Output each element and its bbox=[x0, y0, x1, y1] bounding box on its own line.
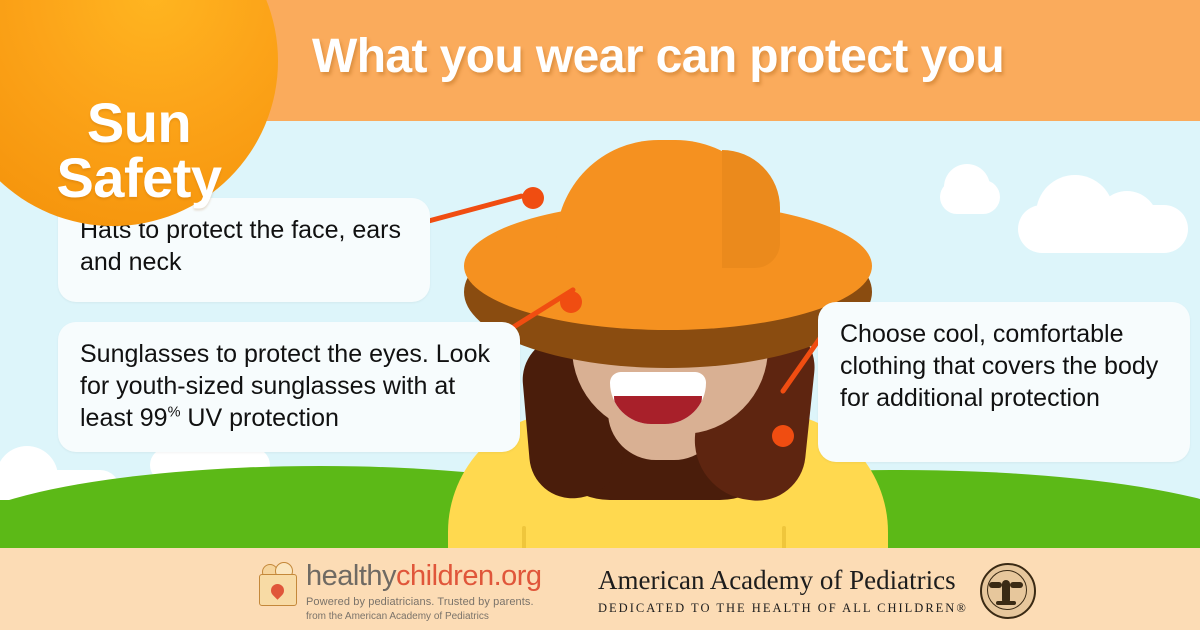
healthychildren-tagline-1: Powered by pediatricians. Trusted by par… bbox=[306, 596, 542, 608]
aap-name: American Academy of Pediatrics bbox=[598, 567, 968, 594]
pointer-dot-glasses bbox=[560, 291, 582, 313]
healthychildren-logo[interactable]: healthychildren.org Powered by pediatric… bbox=[255, 562, 542, 622]
aap-seal-icon bbox=[980, 563, 1036, 619]
sun-safety-infographic: Hats to protect the face, ears and neck … bbox=[0, 0, 1200, 630]
callout-clothing: Choose cool, comfortable clothing that c… bbox=[818, 302, 1190, 462]
healthychildren-mark-icon bbox=[255, 562, 299, 608]
page-headline: What you wear can protect you bbox=[312, 32, 1172, 82]
aap-seal-wing-left bbox=[989, 582, 1002, 588]
aap-subtitle: DEDICATED TO THE HEALTH OF ALL CHILDREN® bbox=[598, 601, 968, 616]
aap-seal-figure bbox=[1002, 580, 1010, 602]
callout-sunglasses-superscript: % bbox=[168, 405, 181, 421]
aap-seal-wing-right bbox=[1010, 582, 1023, 588]
pointer-dot-hats bbox=[522, 187, 544, 209]
mouth bbox=[610, 372, 706, 424]
callout-clothing-text: Choose cool, comfortable clothing that c… bbox=[840, 320, 1158, 412]
healthychildren-wordmark: healthychildren.org bbox=[306, 562, 542, 591]
aap-logo[interactable]: American Academy of Pediatrics DEDICATED… bbox=[598, 563, 1036, 619]
aap-seal-base bbox=[996, 601, 1016, 605]
hat-crown-shadow bbox=[722, 150, 780, 268]
pointer-dot-clothing bbox=[772, 425, 794, 447]
sun-safety-title: Sun Safety bbox=[0, 96, 278, 206]
cloud-large-right bbox=[1018, 205, 1188, 253]
cloud-small-right bbox=[940, 180, 1000, 214]
callout-sunglasses: Sunglasses to protect the eyes. Look for… bbox=[58, 322, 520, 452]
callout-sunglasses-text-part2: UV protection bbox=[180, 404, 338, 432]
sun-safety-title-line2: Safety bbox=[0, 151, 278, 206]
healthychildren-word-a: healthy bbox=[306, 560, 396, 592]
sun-safety-title-line1: Sun bbox=[87, 91, 191, 154]
healthychildren-tagline-2: from the American Academy of Pediatrics bbox=[306, 611, 542, 622]
healthychildren-word-b: children.org bbox=[396, 560, 542, 592]
